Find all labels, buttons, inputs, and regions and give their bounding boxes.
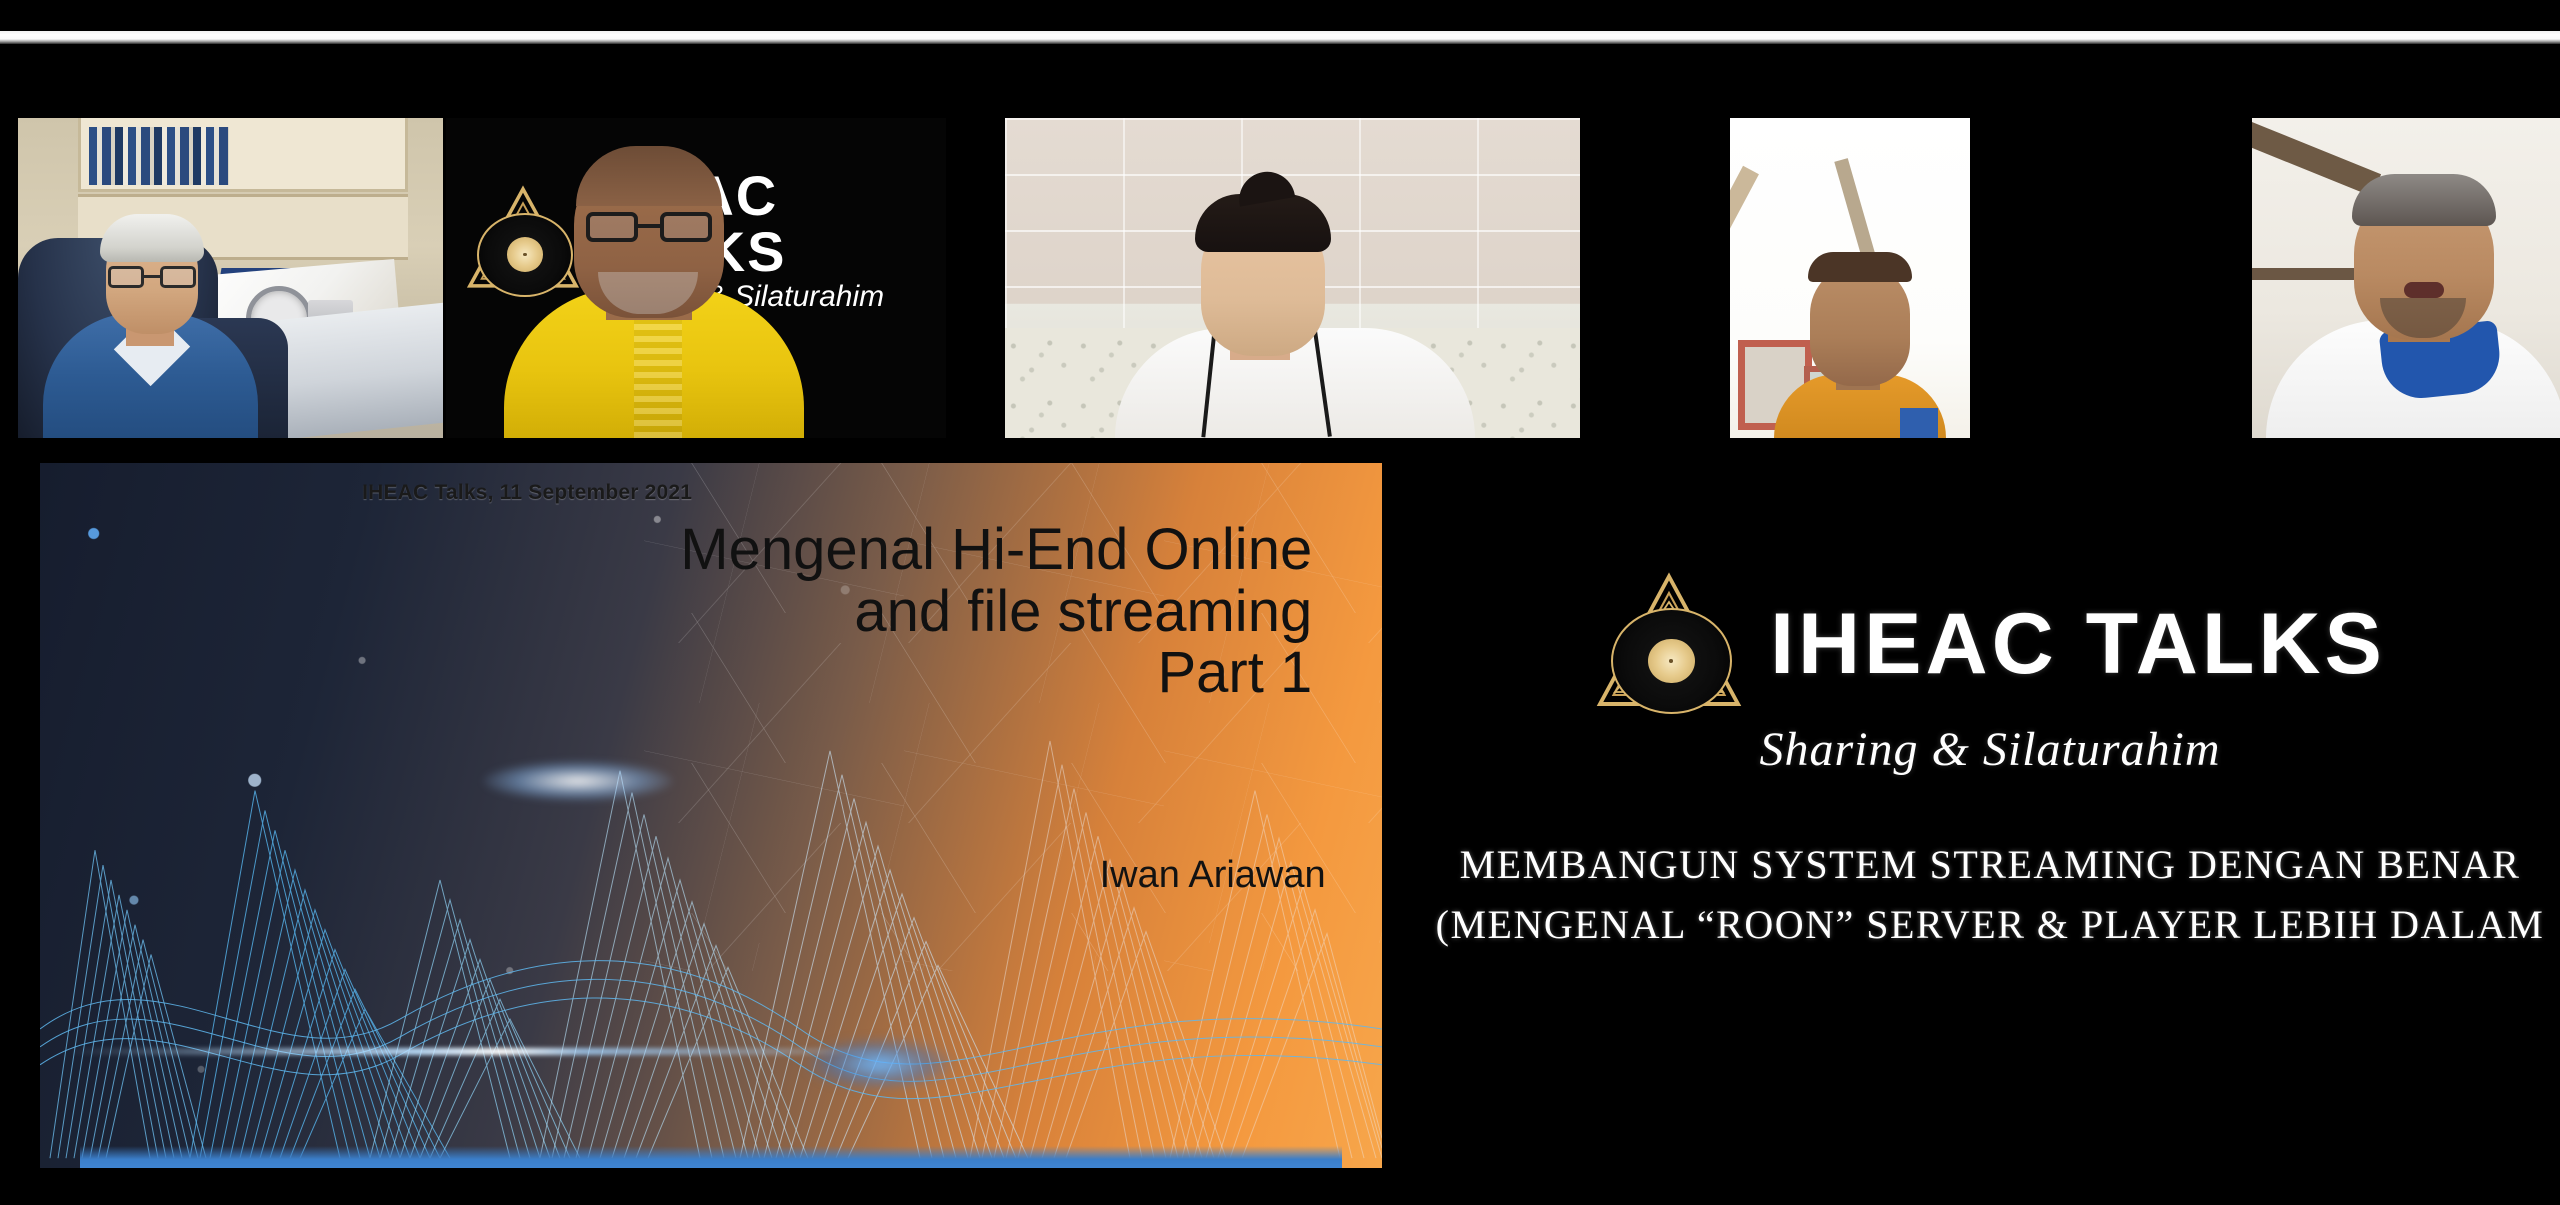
branding-tagline: Sharing & Silaturahim bbox=[1420, 722, 2560, 777]
participant-tile-2[interactable]: IHEAC TALKS Sharing & Silaturahim bbox=[446, 118, 946, 438]
glasses-icon bbox=[586, 212, 712, 242]
branding-caption-line-1: MEMBANGUN SYSTEM STREAMING DENGAN BENAR bbox=[1420, 835, 2560, 895]
participant-3-video bbox=[1005, 118, 1580, 438]
branding-caption: MEMBANGUN SYSTEM STREAMING DENGAN BENAR … bbox=[1420, 835, 2560, 955]
branding-logo-row: IHEAC TALKS bbox=[1420, 560, 2560, 728]
participant-4-video bbox=[1730, 118, 1970, 438]
glasses-icon bbox=[108, 266, 196, 288]
participant-tile-5[interactable] bbox=[2252, 118, 2560, 438]
slide-title-line-2: and file streaming bbox=[265, 581, 1312, 642]
slide-waveform-graphic bbox=[40, 731, 1382, 1168]
slide-bottom-band bbox=[80, 1146, 1341, 1168]
participant-filmstrip: IHEAC TALKS Sharing & Silaturahim bbox=[0, 118, 2560, 438]
iheac-vinyl-triangle-icon bbox=[464, 182, 582, 300]
video-call-screen: IHEAC TALKS Sharing & Silaturahim bbox=[0, 0, 2560, 1205]
participant-tile-4[interactable] bbox=[1730, 118, 1970, 438]
participant-tile-3[interactable] bbox=[1005, 118, 1580, 438]
top-divider-bar bbox=[0, 31, 2560, 44]
participant-5-video bbox=[2252, 118, 2560, 438]
branding-panel: IHEAC TALKS Sharing & Silaturahim MEMBAN… bbox=[1420, 560, 2560, 1180]
participant-tile-1[interactable] bbox=[18, 118, 443, 438]
participant-1-video bbox=[18, 118, 443, 438]
branding-caption-line-2: (MENGENAL “ROON” SERVER & PLAYER LEBIH D… bbox=[1420, 895, 2560, 955]
iheac-vinyl-triangle-icon bbox=[1594, 569, 1744, 719]
slide-title: Mengenal Hi-End Online and file streamin… bbox=[265, 519, 1312, 703]
slide-glow-bar bbox=[67, 1048, 899, 1055]
slide-title-line-1: Mengenal Hi-End Online bbox=[265, 519, 1312, 580]
branding-logotype: IHEAC TALKS bbox=[1770, 601, 2386, 687]
slide-eyebrow-date: IHEAC Talks, 11 September 2021 bbox=[362, 481, 692, 505]
shared-presentation-slide[interactable]: IHEAC Talks, 11 September 2021 Mengenal … bbox=[40, 463, 1382, 1168]
slide-title-line-3: Part 1 bbox=[265, 642, 1312, 703]
slide-presenter-name: Iwan Ariawan bbox=[1100, 854, 1326, 897]
participant-2-video: IHEAC TALKS Sharing & Silaturahim bbox=[446, 118, 946, 438]
